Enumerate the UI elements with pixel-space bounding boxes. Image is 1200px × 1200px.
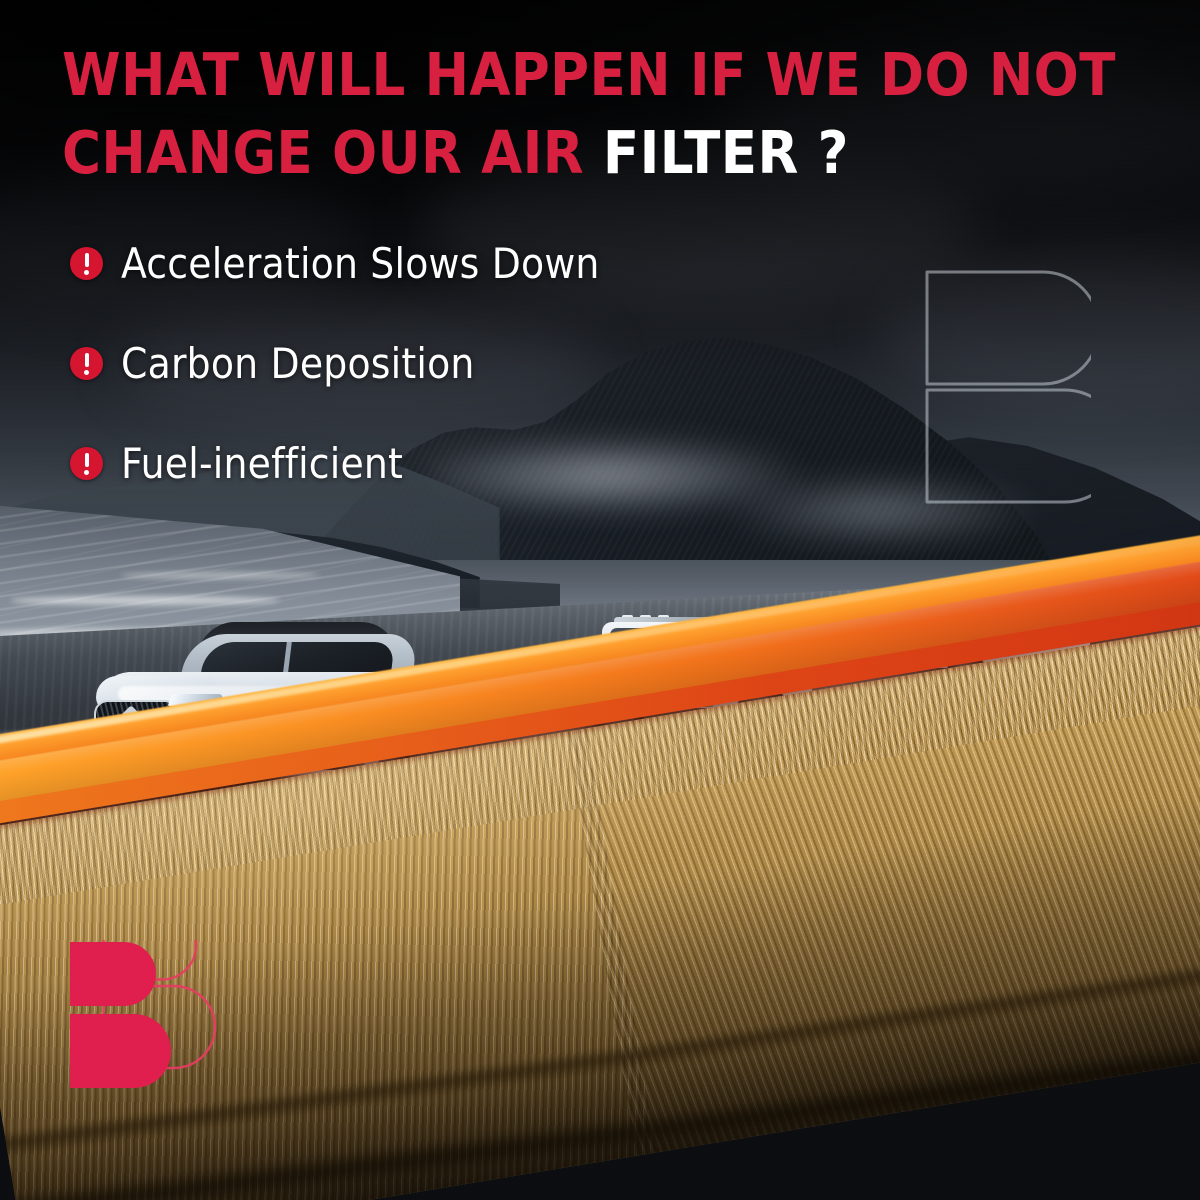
headline-line-1-text: WHAT WILL HAPPEN IF WE DO NOT <box>62 40 1116 109</box>
alert-exclamation-icon <box>70 347 103 380</box>
poster-canvas: WHAT WILL HAPPEN IF WE DO NOT CHANGE OUR… <box>0 0 1200 1200</box>
brand-logo-solid <box>70 942 171 1088</box>
list-item-label: Carbon Deposition <box>121 339 475 388</box>
alert-exclamation-icon <box>70 247 103 280</box>
surf-line <box>120 572 320 579</box>
brand-solid-lower-lobe <box>70 1014 171 1088</box>
headline-line-1: WHAT WILL HAPPEN IF WE DO NOT <box>62 36 1122 114</box>
page-title: WHAT WILL HAPPEN IF WE DO NOT CHANGE OUR… <box>62 36 1122 192</box>
surf-line <box>10 596 280 605</box>
list-item: Acceleration Slows Down <box>70 236 890 290</box>
consequences-list: Acceleration Slows Down Carbon Depositio… <box>70 236 890 536</box>
headline-line-2: CHANGE OUR AIR FILTER ? <box>62 114 1122 192</box>
list-item-label: Acceleration Slows Down <box>121 239 600 288</box>
brand-solid-upper-lobe <box>70 942 156 1006</box>
headline-line-2-red-text: CHANGE OUR AIR <box>62 118 584 187</box>
list-item-label: Fuel-inefficient <box>121 439 403 488</box>
list-item: Fuel-inefficient <box>70 436 890 490</box>
alert-exclamation-icon <box>70 447 103 480</box>
list-item: Carbon Deposition <box>70 336 890 390</box>
headline-line-2-white-text: FILTER ? <box>603 118 849 187</box>
brand-b-logo <box>68 940 220 1120</box>
